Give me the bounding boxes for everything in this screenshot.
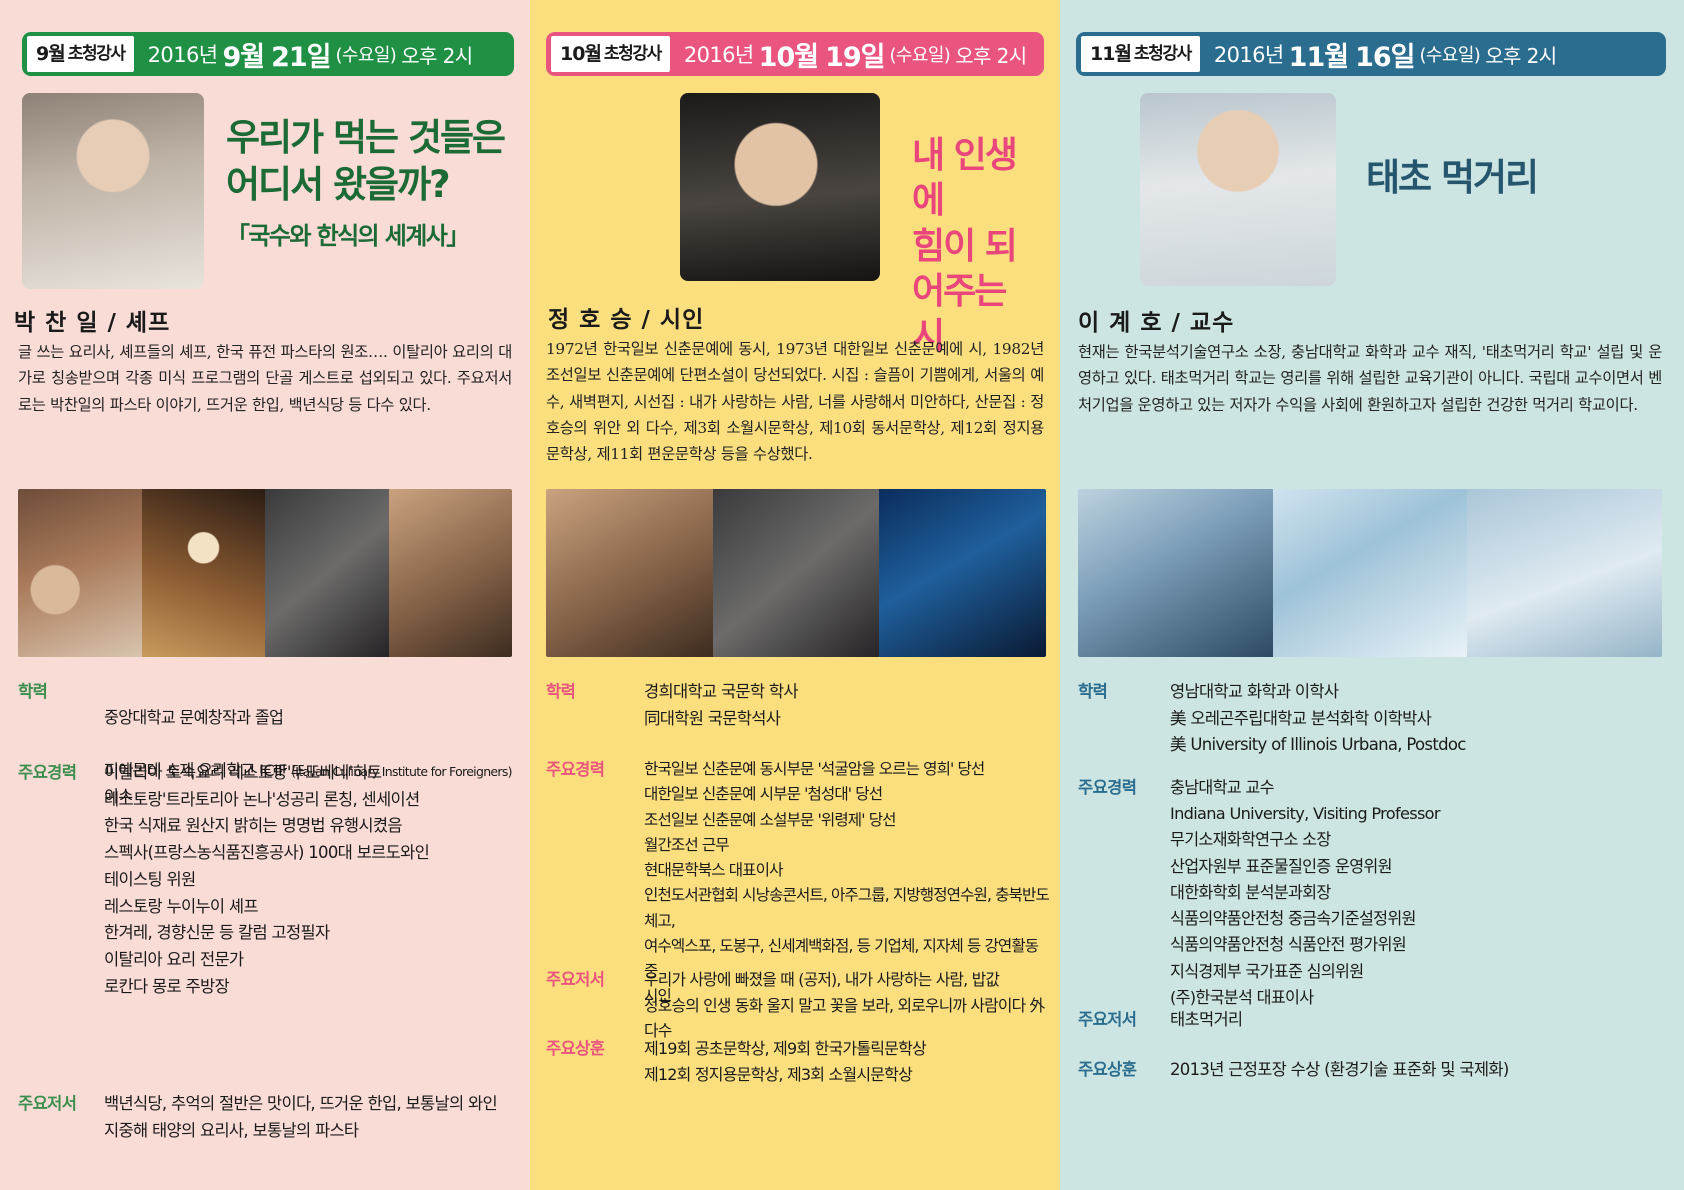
- date-day: 19일: [825, 35, 884, 74]
- speaker-name: 정 호 승 / 시인: [548, 300, 704, 334]
- lecture-title-line-2: 어디서 왔을까?: [226, 162, 504, 209]
- strip-photo-4: [389, 489, 513, 657]
- date-weekday: (수요일): [1420, 41, 1481, 67]
- credential-row-career: 주요경력 이탈리아 토속요리 레스토랑'뚜또베네'히트 레스토랑'트라토리아 논…: [18, 760, 522, 1000]
- credential-label: 주요저서: [546, 967, 644, 994]
- credential-value: 태초먹거리: [1170, 1007, 1242, 1034]
- credential-label: 주요경력: [546, 757, 644, 784]
- speaker-portrait-photo: [1140, 93, 1336, 286]
- lecture-title-line-1: 우리가 먹는 것들은: [226, 115, 504, 162]
- month-badge: 9월 초청강사: [27, 36, 134, 72]
- date-year: 2016년: [148, 39, 218, 69]
- credential-value: 우리가 사랑에 빠졌을 때 (공저), 내가 사랑하는 사람, 밥값 정호승의 …: [644, 967, 1054, 1044]
- date-year: 2016년: [1214, 39, 1284, 69]
- credential-value: 이탈리아 토속요리 레스토랑'뚜또베네'히트 레스토랑'트라토리아 논나'성공리…: [104, 760, 429, 1000]
- photo-strip: [18, 489, 512, 657]
- credential-label: 학력: [546, 679, 644, 706]
- speaker-portrait-photo: [22, 93, 204, 289]
- lecture-column-november: 11월 초청강사 2016년 11월 16일 (수요일) 오후 2시 태초 먹거…: [1060, 0, 1684, 1190]
- strip-photo-3: [1467, 489, 1662, 657]
- lecture-subtitle: 「국수와 한식의 세계사」: [226, 221, 504, 251]
- header-bar-november: 11월 초청강사 2016년 11월 16일 (수요일) 오후 2시: [1076, 32, 1666, 76]
- credential-row-awards: 주요상훈 2013년 근정포장 수상 (환경기술 표준화 및 국제화): [1078, 1057, 1676, 1084]
- speaker-bio: 1972년 한국일보 신춘문예에 동시, 1973년 대한일보 신춘문예에 시,…: [546, 336, 1044, 467]
- strip-photo-2: [1273, 489, 1468, 657]
- header-bar-october: 10월 초청강사 2016년 10월 19일 (수요일) 오후 2시: [546, 32, 1044, 76]
- strip-photo-1: [18, 489, 142, 657]
- credential-label: 주요저서: [1078, 1007, 1170, 1034]
- date-weekday: (수요일): [336, 41, 397, 67]
- photo-strip: [546, 489, 1046, 657]
- lecture-title: 내 인생에 힘이 되어주는 시: [912, 93, 1044, 360]
- date-month: 9월: [222, 35, 264, 74]
- credential-label: 주요상훈: [546, 1036, 644, 1063]
- portrait-and-title-november: 태초 먹거리: [1140, 93, 1666, 286]
- credential-value: 충남대학교 교수 Indiana University, Visiting Pr…: [1170, 775, 1440, 1011]
- badge-month-label: 9월: [36, 45, 65, 64]
- lecture-date: 2016년 11월 16일 (수요일) 오후 2시: [1200, 32, 1557, 76]
- date-month: 11월: [1289, 35, 1348, 74]
- speaker-name: 박 찬 일 / 셰프: [14, 303, 170, 337]
- date-day: 21일: [271, 35, 330, 74]
- date-day: 16일: [1355, 35, 1414, 74]
- strip-photo-1: [546, 489, 713, 657]
- month-badge: 10월 초청강사: [551, 36, 670, 72]
- credential-value: 2013년 근정포장 수상 (환경기술 표준화 및 국제화): [1170, 1057, 1509, 1084]
- strip-photo-2: [713, 489, 880, 657]
- lecture-column-september: 9월 초청강사 2016년 9월 21일 (수요일) 오후 2시 우리가 먹는 …: [0, 0, 530, 1190]
- credential-row-education: 학력 경희대학교 국문학 학사 同대학원 국문학석사: [546, 679, 1054, 732]
- credential-label: 학력: [1078, 679, 1170, 706]
- lecture-column-october: 10월 초청강사 2016년 10월 19일 (수요일) 오후 2시 내 인생에…: [530, 0, 1060, 1190]
- credential-value: 제19회 공초문학상, 제9회 한국가톨릭문학상 제12회 정지용문학상, 제3…: [644, 1036, 926, 1088]
- lecture-title: 우리가 먹는 것들은 어디서 왔을까? 「국수와 한식의 세계사」: [226, 93, 504, 251]
- lecture-date: 2016년 10월 19일 (수요일) 오후 2시: [670, 32, 1027, 76]
- date-year: 2016년: [684, 39, 754, 69]
- credential-value: 백년식당, 추억의 절반은 맛이다, 뜨거운 한입, 보통날의 와인 지중해 태…: [104, 1091, 497, 1144]
- date-time: 오후 2시: [955, 40, 1026, 69]
- credential-label: 주요저서: [18, 1091, 104, 1118]
- lecture-series-poster: 9월 초청강사 2016년 9월 21일 (수요일) 오후 2시 우리가 먹는 …: [0, 0, 1684, 1190]
- badge-title-label: 초청강사: [604, 46, 661, 63]
- credential-value: 영남대학교 화학과 이학사 美 오레곤주립대학교 분석화학 이학박사 美 Uni…: [1170, 679, 1466, 759]
- credential-row-education: 학력 영남대학교 화학과 이학사 美 오레곤주립대학교 분석화학 이학박사 美 …: [1078, 679, 1676, 759]
- credential-row-books: 주요저서 우리가 사랑에 빠졌을 때 (공저), 내가 사랑하는 사람, 밥값 …: [546, 967, 1054, 1044]
- lecture-title-line-1: 태초 먹거리: [1366, 155, 1537, 202]
- strip-photo-1: [1078, 489, 1273, 657]
- lecture-date: 2016년 9월 21일 (수요일) 오후 2시: [134, 32, 473, 76]
- lecture-title: 태초 먹거리: [1366, 93, 1537, 202]
- credential-row-awards: 주요상훈 제19회 공초문학상, 제9회 한국가톨릭문학상 제12회 정지용문학…: [546, 1036, 1054, 1088]
- lecture-title-line-1: 내 인생에: [912, 133, 1044, 224]
- portrait-and-title-september: 우리가 먹는 것들은 어디서 왔을까? 「국수와 한식의 세계사」: [22, 93, 514, 289]
- date-time: 오후 2시: [401, 40, 472, 69]
- credential-row-career: 주요경력 충남대학교 교수 Indiana University, Visiti…: [1078, 775, 1676, 1011]
- badge-title-label: 초청강사: [68, 46, 125, 63]
- credential-label: 주요경력: [1078, 775, 1170, 802]
- header-bar-september: 9월 초청강사 2016년 9월 21일 (수요일) 오후 2시: [22, 32, 514, 76]
- credential-row-books: 주요저서 태초먹거리: [1078, 1007, 1676, 1034]
- photo-strip: [1078, 489, 1662, 657]
- speaker-bio: 글 쓰는 요리사, 셰프들의 셰프, 한국 퓨전 파스타의 원조…. 이탈리아 …: [18, 339, 512, 418]
- date-time: 오후 2시: [1485, 40, 1556, 69]
- speaker-portrait-photo: [680, 93, 880, 281]
- credential-row-books: 주요저서 백년식당, 추억의 절반은 맛이다, 뜨거운 한입, 보통날의 와인 …: [18, 1091, 522, 1144]
- month-badge: 11월 초청강사: [1081, 36, 1200, 72]
- portrait-and-title-october: 내 인생에 힘이 되어주는 시: [680, 93, 1044, 360]
- date-weekday: (수요일): [890, 41, 951, 67]
- strip-photo-3: [265, 489, 389, 657]
- strip-photo-3: [879, 489, 1046, 657]
- badge-month-label: 10월: [560, 45, 601, 64]
- credential-label: 주요경력: [18, 760, 104, 787]
- badge-month-label: 11월: [1090, 45, 1131, 64]
- credential-label: 주요상훈: [1078, 1057, 1170, 1084]
- education-line-1: 중앙대학교 문예창작과 졸업: [104, 705, 522, 731]
- speaker-bio: 현재는 한국분석기술연구소 소장, 충남대학교 화학과 교수 재직, '태초먹거…: [1078, 339, 1662, 418]
- strip-photo-2: [142, 489, 266, 657]
- credential-label: 학력: [18, 679, 104, 706]
- credential-value: 경희대학교 국문학 학사 同대학원 국문학석사: [644, 679, 798, 732]
- speaker-name: 이 계 호 / 교수: [1078, 303, 1234, 337]
- date-month: 10월: [759, 35, 818, 74]
- badge-title-label: 초청강사: [1134, 46, 1191, 63]
